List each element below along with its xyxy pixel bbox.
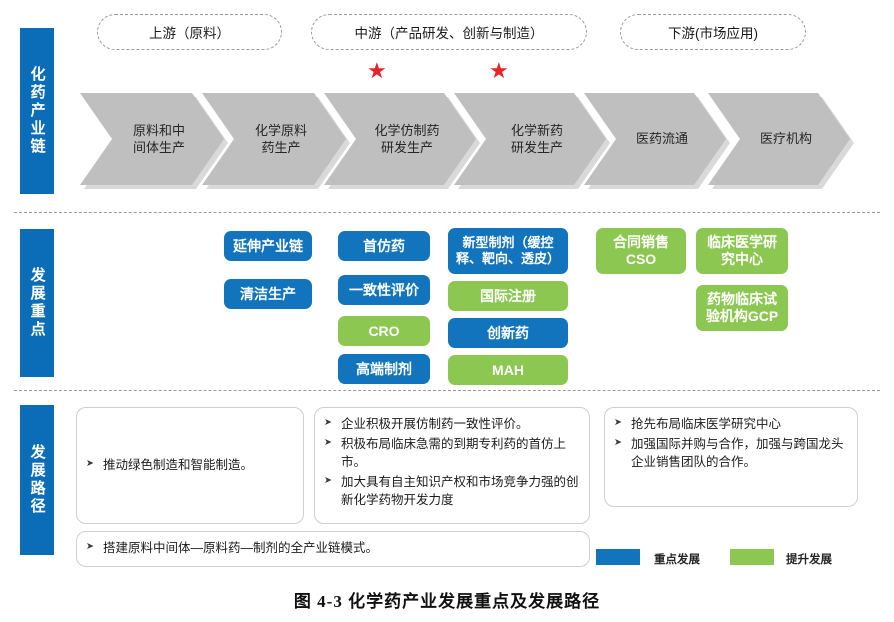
stage-header-downstream-label: 下游(市场应用) [668,22,758,42]
chain-step-5-label: 医药流通 [636,130,688,147]
list-item: 积极布局临床急需的到期专利药的首仿上市。 [324,435,580,472]
focus-pill-clinical-research-center-label: 临床医学研 究中心 [707,234,777,268]
focus-pill-first-generic-label: 首仿药 [363,238,405,255]
focus-pill-international-registration-label: 国际注册 [480,288,536,305]
chain-step-1-label: 原料和中 间体生产 [133,122,185,156]
star-icon-generic-drug-glyph: ★ [367,58,387,83]
figure-caption: 图 4-3 化学药产业发展重点及发展路径 [0,587,894,612]
list-item: 抢先布局临床医学研究中心 [614,415,848,434]
path-box-upstream-list: 推动绿色制造和智能制造。 [86,456,294,476]
focus-pill-innovative-drug[interactable]: 创新药 [448,318,568,348]
focus-pill-high-end-formulation[interactable]: 高端制剂 [338,354,430,384]
path-box-downstream-list: 抢先布局临床医学研究中心 加强国际并购与合作，加强与跨国龙头企业销售团队的合作。 [614,415,848,472]
row-label-development-focus: 发展重点 [20,229,54,377]
list-item: 加大具有自主知识产权和市场竞争力强的创新化学药物开发力度 [324,473,580,510]
chain-step-3-label: 化学仿制药 研发生产 [374,122,439,156]
focus-pill-extend-chain[interactable]: 延伸产业链 [224,231,312,261]
focus-pill-high-end-formulation-label: 高端制剂 [356,361,412,378]
focus-pill-gcp[interactable]: 药物临床试 验机构GCP [696,285,788,331]
focus-pill-cro[interactable]: CRO [338,316,430,346]
row-label-industry-chain-text: 化药产业链 [27,66,46,156]
focus-pill-consistency-evaluation-label: 一致性评价 [349,282,419,299]
section-divider-1 [14,212,880,213]
focus-pill-consistency-evaluation[interactable]: 一致性评价 [338,275,430,305]
path-box-full-chain-list: 搭建原料中间体—原料药—制剂的全产业链模式。 [86,539,580,559]
stage-header-upstream-label: 上游（原料） [149,22,230,42]
row-label-development-path: 发展路径 [20,405,54,555]
focus-pill-cro-label: CRO [368,323,399,340]
star-icon-new-drug-glyph: ★ [489,58,509,83]
row-label-development-path-text: 发展路径 [27,444,46,516]
star-icon-new-drug: ★ [489,60,509,82]
chain-step-4-label: 化学新药 研发生产 [511,122,563,156]
focus-pill-mah-label: MAH [492,362,524,379]
focus-pill-clinical-research-center[interactable]: 临床医学研 究中心 [696,228,788,274]
list-item: 推动绿色制造和智能制造。 [86,456,294,475]
legend-swatch-upgrade-development [730,549,774,565]
list-item: 搭建原料中间体—原料药—制剂的全产业链模式。 [86,539,580,558]
path-box-midstream-list: 企业积极开展仿制药一致性评价。 积极布局临床急需的到期专利药的首仿上市。 加大具… [324,415,580,510]
row-label-industry-chain: 化药产业链 [20,28,54,194]
stage-header-upstream: 上游（原料） [97,14,282,50]
row-label-development-focus-text: 发展重点 [27,267,46,339]
focus-pill-clean-production[interactable]: 清洁生产 [224,279,312,309]
focus-pill-clean-production-label: 清洁生产 [240,286,296,303]
focus-pill-international-registration[interactable]: 国际注册 [448,281,568,311]
legend-swatch-key-development [596,549,640,565]
legend-label-key-development: 重点发展 [654,551,700,567]
focus-pill-gcp-label: 药物临床试 验机构GCP [706,291,778,325]
path-box-downstream: 抢先布局临床医学研究中心 加强国际并购与合作，加强与跨国龙头企业销售团队的合作。 [604,407,858,507]
chain-step-6-label: 医疗机构 [760,130,812,147]
section-divider-2 [14,390,880,391]
focus-pill-mah[interactable]: MAH [448,355,568,385]
focus-pill-novel-formulation[interactable]: 新型制剂（缓控 释、靶向、透皮） [448,228,568,274]
focus-pill-innovative-drug-label: 创新药 [487,325,529,342]
chain-step-2-label: 化学原料 药生产 [255,122,307,156]
path-box-midstream: 企业积极开展仿制药一致性评价。 积极布局临床急需的到期专利药的首仿上市。 加大具… [314,407,590,524]
path-box-upstream: 推动绿色制造和智能制造。 [76,407,304,524]
focus-pill-cso-label: 合同销售 CSO [613,234,669,268]
list-item: 企业积极开展仿制药一致性评价。 [324,415,580,434]
list-item: 加强国际并购与合作，加强与跨国龙头企业销售团队的合作。 [614,435,848,472]
focus-pill-novel-formulation-label: 新型制剂（缓控 释、靶向、透皮） [456,235,560,266]
stage-header-downstream: 下游(市场应用) [620,14,806,50]
legend-label-upgrade-development: 提升发展 [786,551,832,567]
stage-header-midstream-label: 中游（产品研发、创新与制造） [355,22,544,42]
focus-pill-first-generic[interactable]: 首仿药 [338,231,430,261]
stage-header-midstream: 中游（产品研发、创新与制造） [311,14,587,50]
path-box-full-chain: 搭建原料中间体—原料药—制剂的全产业链模式。 [76,531,590,567]
focus-pill-cso[interactable]: 合同销售 CSO [596,228,686,274]
star-icon-generic-drug: ★ [367,60,387,82]
focus-pill-extend-chain-label: 延伸产业链 [233,238,303,255]
figure-canvas: 化药产业链 发展重点 发展路径 上游（原料） 中游（产品研发、创新与制造） 下游… [0,0,894,622]
